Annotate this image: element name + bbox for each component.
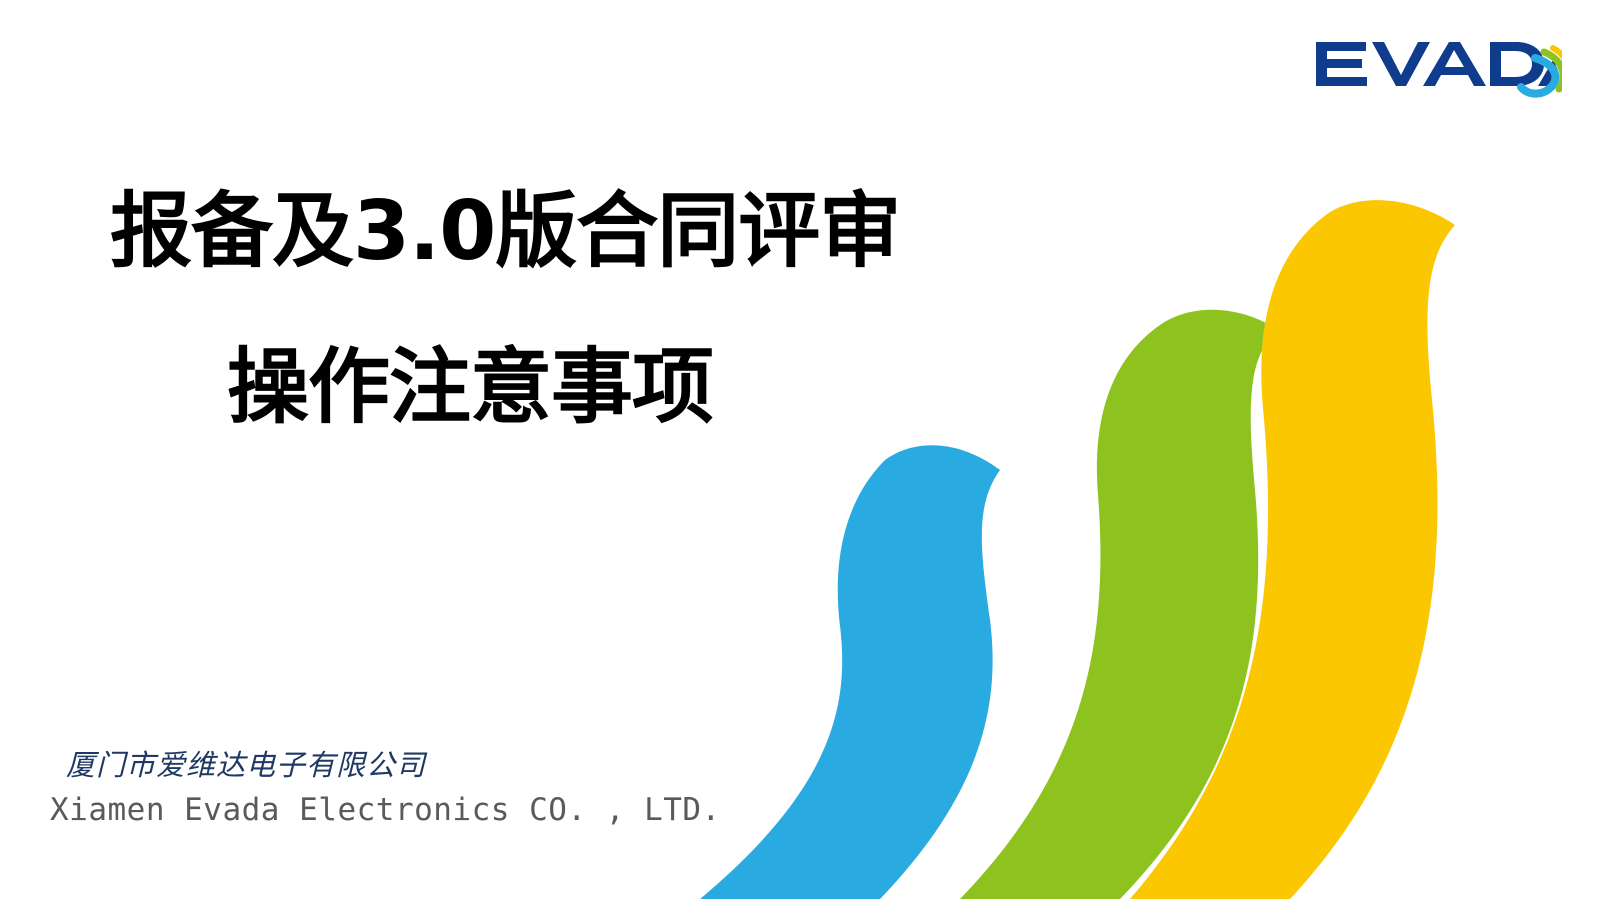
evada-logo [1310,28,1562,104]
footer-company-block: 厦门市爱维达电子有限公司 Xiamen Evada Electronics CO… [50,745,810,831]
evada-wordmark-icon [1316,42,1562,86]
green-ribbon [960,310,1278,899]
company-name-cn: 厦门市爱维达电子有限公司 [50,745,810,785]
title-slide: 报备及3.0版合同评审 操作注意事项 厦门市爱维达电子有限公司 Xiamen E… [0,0,1600,899]
company-name-en: Xiamen Evada Electronics CO. , LTD. [50,789,810,831]
evada-logo-mark [1310,28,1562,104]
yellow-ribbon-shadow [1130,200,1455,899]
title-line-1: 报备及3.0版合同评审 [0,178,1000,286]
yellow-ribbon [1130,200,1455,899]
green-ribbon-shadow [960,310,1278,899]
title-line-2: 操作注意事项 [0,334,1000,442]
page-title: 报备及3.0版合同评审 操作注意事项 [0,178,1000,442]
